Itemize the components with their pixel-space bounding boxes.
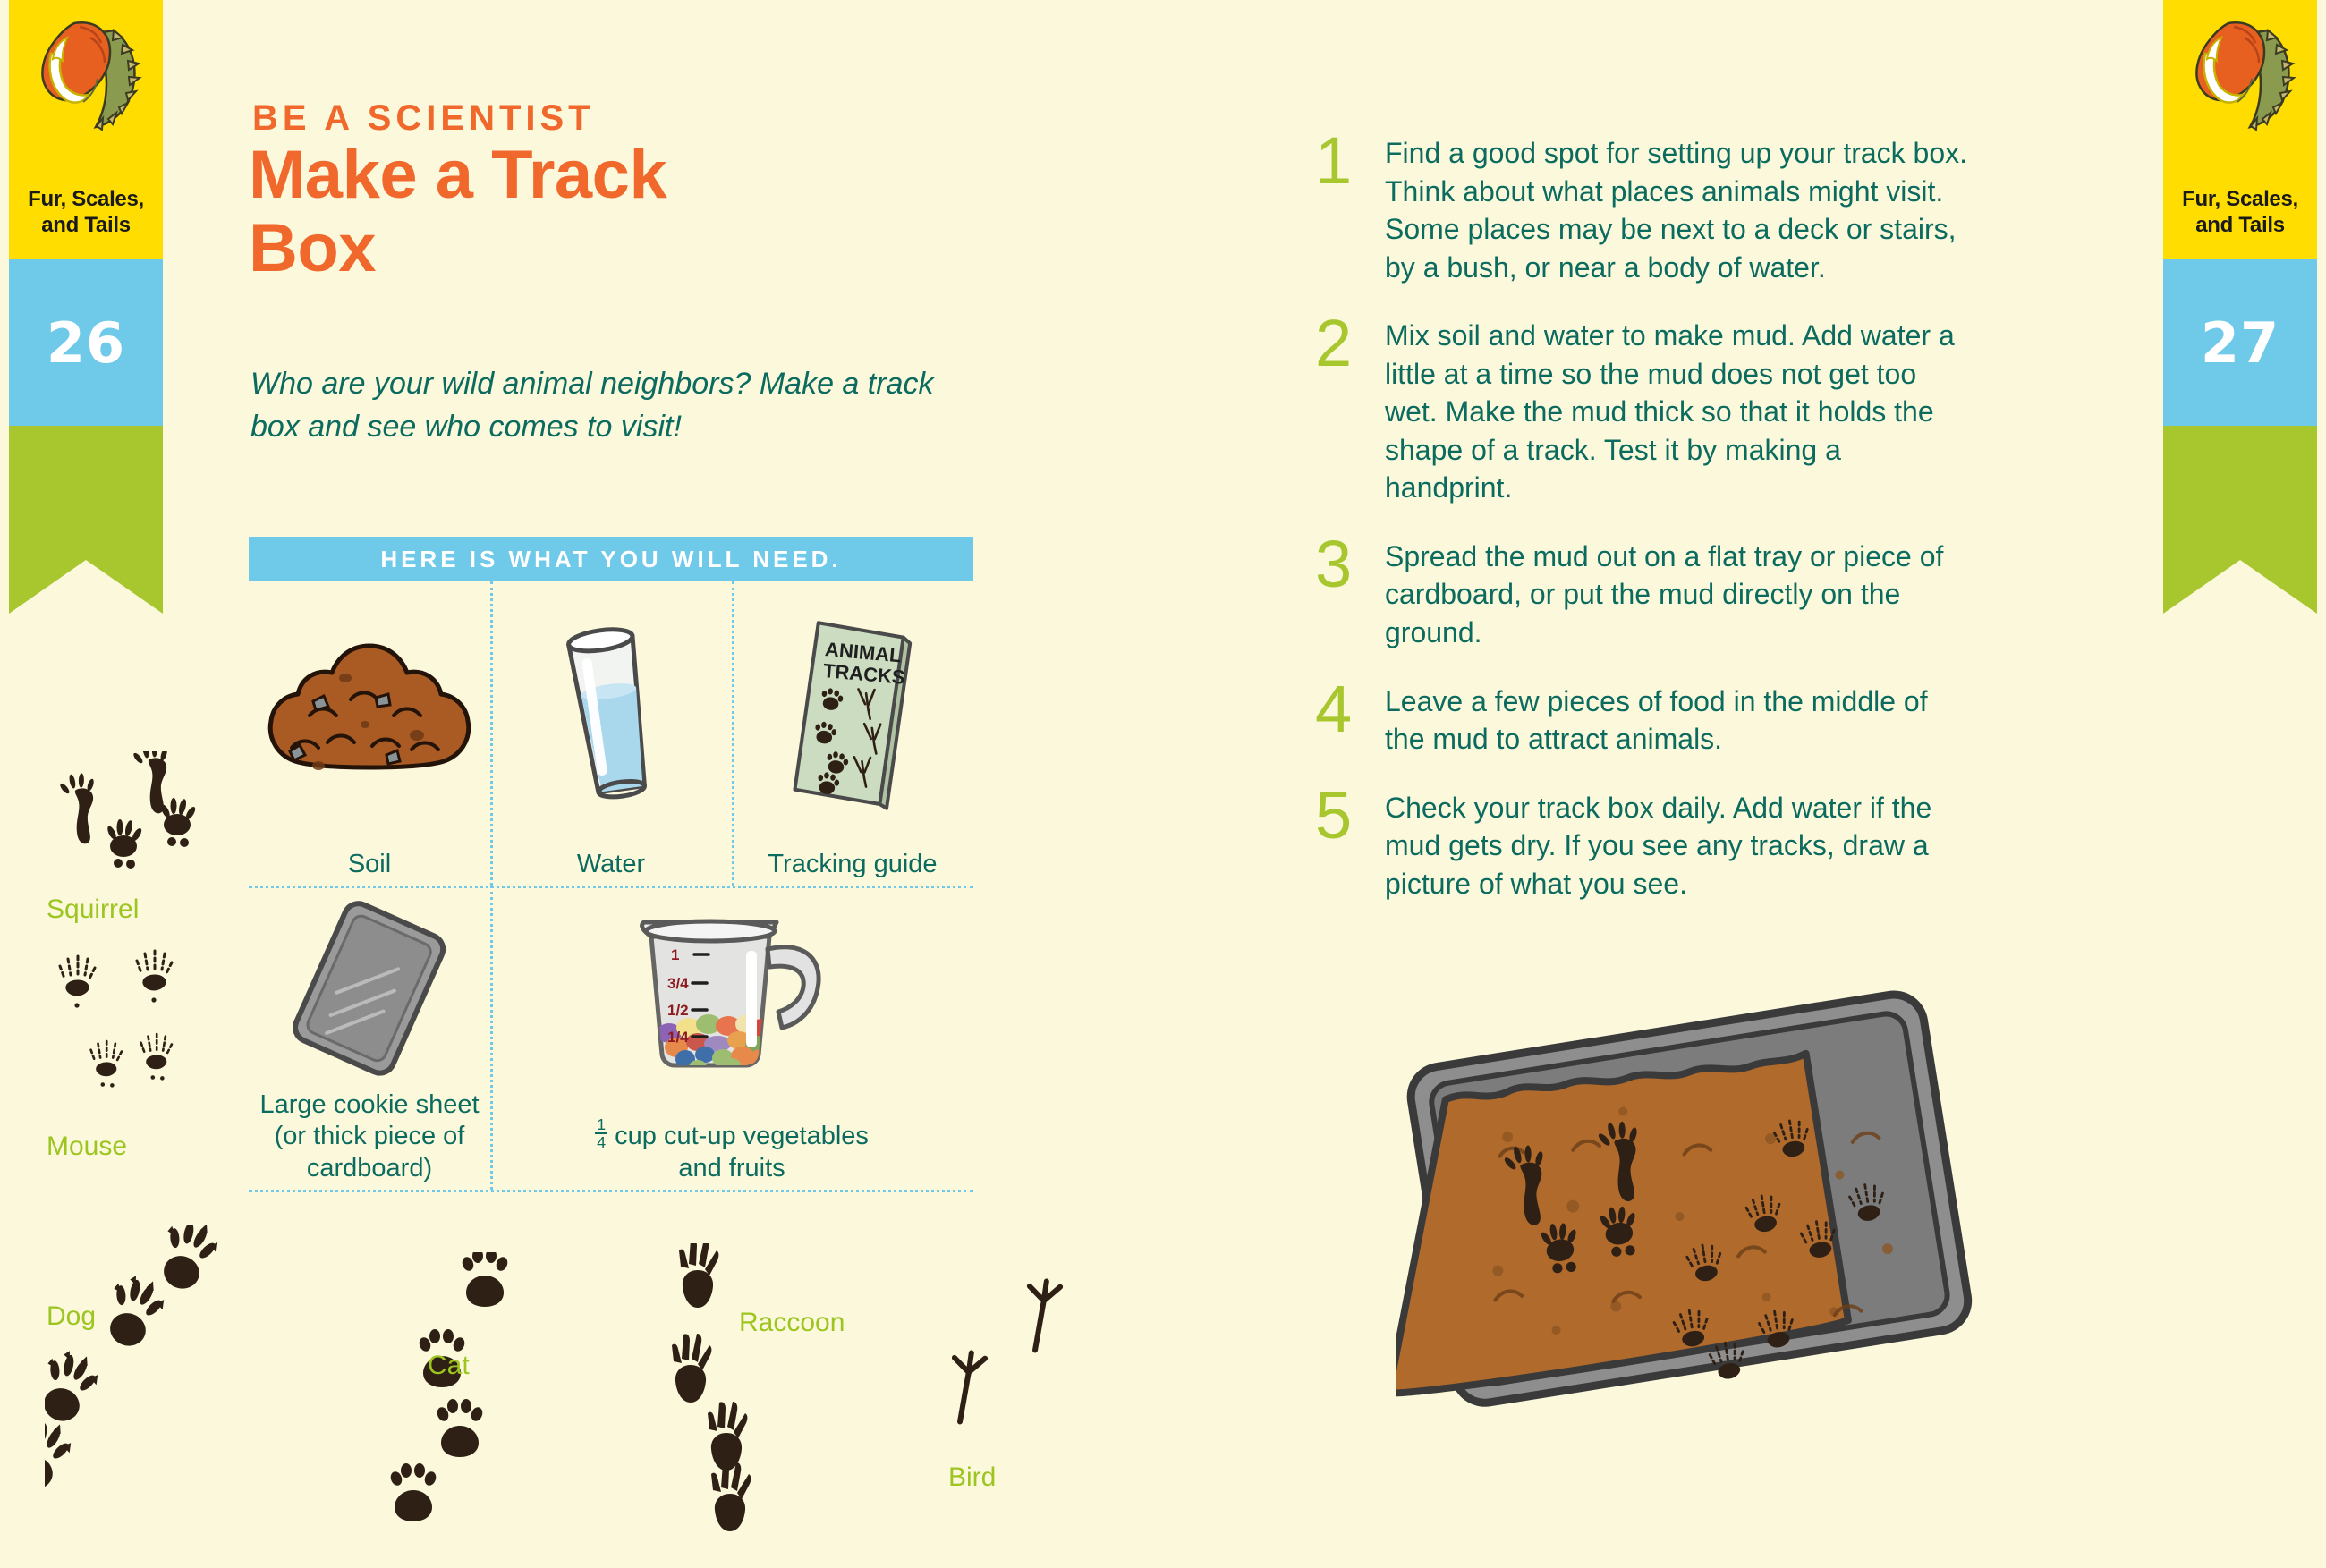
step-item: 5 Check your track box daily. Add water … — [1315, 789, 1968, 903]
step-number: 4 — [1315, 682, 1385, 759]
dog-tracks-icon — [45, 1225, 277, 1521]
track-label-mouse: Mouse — [47, 1132, 127, 1162]
material-item-soil: Soil — [249, 581, 490, 886]
material-item-vegetables: 1 3/4 1/2 1/4 1 4 — [490, 886, 973, 1190]
materials-grid: Soil Water — [249, 581, 973, 1190]
cup-marking-three-quarters: 3/4 — [667, 975, 689, 992]
step-number: 5 — [1315, 789, 1385, 903]
material-item-tracking-guide: ANIMAL TRACKS — [732, 581, 973, 886]
mud-tray-with-tracks-illustration — [1396, 975, 1986, 1440]
material-label-tracking-guide: Tracking guide — [768, 849, 937, 886]
fraction-numerator: 1 — [595, 1116, 607, 1134]
step-item: 4 Leave a few pieces of food in the midd… — [1315, 682, 1968, 759]
squirrel-tracks-icon — [36, 751, 250, 894]
right-page-tab: Fur, Scales, and Tails 27 — [2163, 0, 2317, 560]
left-tab-green-chevron — [9, 426, 163, 560]
step-number: 2 — [1315, 317, 1385, 507]
step-item: 2 Mix soil and water to make mud. Add wa… — [1315, 317, 1968, 507]
right-tab-green-chevron — [2163, 426, 2317, 560]
cup-marking-one-half: 1/2 — [667, 1002, 689, 1019]
right-tab-caption: Fur, Scales, and Tails — [2163, 187, 2317, 238]
material-label-water: Water — [577, 849, 645, 886]
right-tab-caption-line1: Fur, Scales, — [2182, 187, 2298, 211]
right-tab-caption-line2: and Tails — [2195, 213, 2285, 237]
right-tab-yellow-section: Fur, Scales, and Tails — [2163, 0, 2317, 259]
cat-paw-tracks-icon — [340, 1252, 573, 1547]
step-number: 1 — [1315, 134, 1385, 286]
material-label-cookie-sheet: Large cookie sheet (or thick piece of ca… — [259, 1089, 479, 1190]
material-item-water: Water — [490, 581, 732, 886]
vegetables-label-line2: and fruits — [678, 1154, 785, 1182]
cookie-sheet-label-line2: (or thick piece of — [275, 1122, 465, 1150]
step-text: Mix soil and water to make mud. Add wate… — [1385, 317, 1968, 507]
track-label-raccoon: Raccoon — [739, 1308, 845, 1338]
left-tab-blue-section: 26 — [9, 259, 163, 426]
fox-tail-and-lizard-tail-logo — [2182, 14, 2298, 144]
cup-marking-one-quarter: 1/4 — [667, 1029, 689, 1046]
right-tab-blue-section: 27 — [2163, 259, 2317, 426]
left-tab-caption-line1: Fur, Scales, — [28, 187, 144, 211]
cookie-sheet-icon — [249, 886, 490, 1089]
eyebrow-label: BE A SCIENTIST — [252, 98, 595, 139]
measuring-cup-icon: 1 3/4 1/2 1/4 — [490, 886, 973, 1116]
materials-divider-h2 — [249, 1190, 973, 1192]
step-number: 3 — [1315, 538, 1385, 652]
materials-row-1: Soil Water — [249, 581, 973, 886]
page-title-line2: Box — [249, 210, 376, 286]
left-page-number: 26 — [47, 310, 125, 376]
material-label-soil: Soil — [348, 849, 391, 886]
step-text: Find a good spot for setting up your tra… — [1385, 134, 1968, 286]
glass-of-water-icon — [490, 581, 732, 849]
page-title-line1: Make a Track — [249, 137, 666, 213]
left-tab-caption-line2: and Tails — [41, 213, 131, 237]
steps-list: 1 Find a good spot for setting up your t… — [1315, 134, 1968, 933]
tracking-guide-booklet-icon: ANIMAL TRACKS — [732, 581, 973, 849]
quarter-fraction: 1 4 — [595, 1116, 607, 1150]
raccoon-tracks-icon — [662, 1243, 841, 1547]
track-label-squirrel: Squirrel — [47, 894, 139, 925]
material-label-vegetables: 1 4 cup cut-up vegetables and fruits — [595, 1116, 869, 1190]
fox-tail-and-lizard-tail-logo — [28, 14, 144, 144]
material-item-cookie-sheet: Large cookie sheet (or thick piece of ca… — [249, 886, 490, 1190]
step-text: Leave a few pieces of food in the middle… — [1385, 682, 1968, 759]
vegetables-label-line1: cup cut-up vegetables — [615, 1122, 869, 1150]
book-spread: Fur, Scales, and Tails 26 BE A SCIENTIST… — [0, 0, 2326, 1568]
cup-marking-1: 1 — [671, 946, 679, 963]
step-item: 1 Find a good spot for setting up your t… — [1315, 134, 1968, 286]
left-tab-yellow-section: Fur, Scales, and Tails — [9, 0, 163, 259]
step-text: Spread the mud out on a flat tray or pie… — [1385, 538, 1968, 652]
page-title: Make a Track Box — [249, 139, 839, 285]
cookie-sheet-label-line3: cardboard) — [307, 1154, 432, 1182]
left-tab-caption: Fur, Scales, and Tails — [9, 187, 163, 238]
cookie-sheet-label-line1: Large cookie sheet — [259, 1090, 479, 1119]
track-label-bird: Bird — [948, 1462, 996, 1493]
materials-row-2: Large cookie sheet (or thick piece of ca… — [249, 886, 973, 1190]
bird-tracks-icon — [948, 1270, 1109, 1494]
right-page-number: 27 — [2201, 310, 2279, 376]
step-text: Check your track box daily. Add water if… — [1385, 789, 1968, 903]
left-page-tab: Fur, Scales, and Tails 26 — [9, 0, 163, 560]
mouse-tracks-icon — [45, 948, 224, 1127]
soil-pile-icon — [249, 581, 490, 849]
page-subtitle: Who are your wild animal neighbors? Make… — [250, 362, 984, 449]
track-label-dog: Dog — [47, 1301, 96, 1332]
fraction-denominator: 4 — [595, 1134, 607, 1150]
step-item: 3 Spread the mud out on a flat tray or p… — [1315, 538, 1968, 652]
track-label-cat: Cat — [428, 1351, 470, 1381]
materials-banner: HERE IS WHAT YOU WILL NEED. — [249, 537, 973, 581]
